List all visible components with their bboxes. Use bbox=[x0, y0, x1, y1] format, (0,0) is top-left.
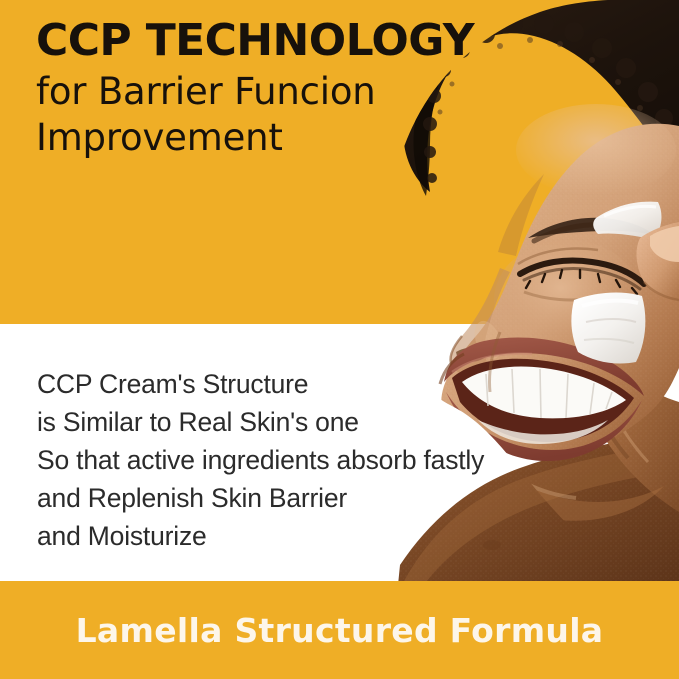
page-title: CCP TECHNOLOGY bbox=[36, 18, 476, 64]
subheadline: for Barrier Funcion Improvement bbox=[36, 69, 476, 162]
headline-block: CCP TECHNOLOGY for Barrier Funcion Impro… bbox=[36, 18, 476, 162]
body-line-1: CCP Cream's Structure bbox=[37, 365, 484, 403]
banner-tagline: Lamella Structured Formula bbox=[0, 581, 679, 679]
body-copy: CCP Cream's Structure is Similar to Real… bbox=[37, 365, 484, 555]
body-line-2: is Similar to Real Skin's one bbox=[37, 403, 484, 441]
subheadline-line-2: Improvement bbox=[36, 115, 476, 161]
subheadline-line-1: for Barrier Funcion bbox=[36, 69, 476, 115]
body-line-3: So that active ingredients absorb fastly bbox=[37, 441, 484, 479]
body-line-4: and Replenish Skin Barrier bbox=[37, 479, 484, 517]
body-line-5: and Moisturize bbox=[37, 517, 484, 555]
product-infographic-poster: CCP TECHNOLOGY for Barrier Funcion Impro… bbox=[0, 0, 679, 679]
